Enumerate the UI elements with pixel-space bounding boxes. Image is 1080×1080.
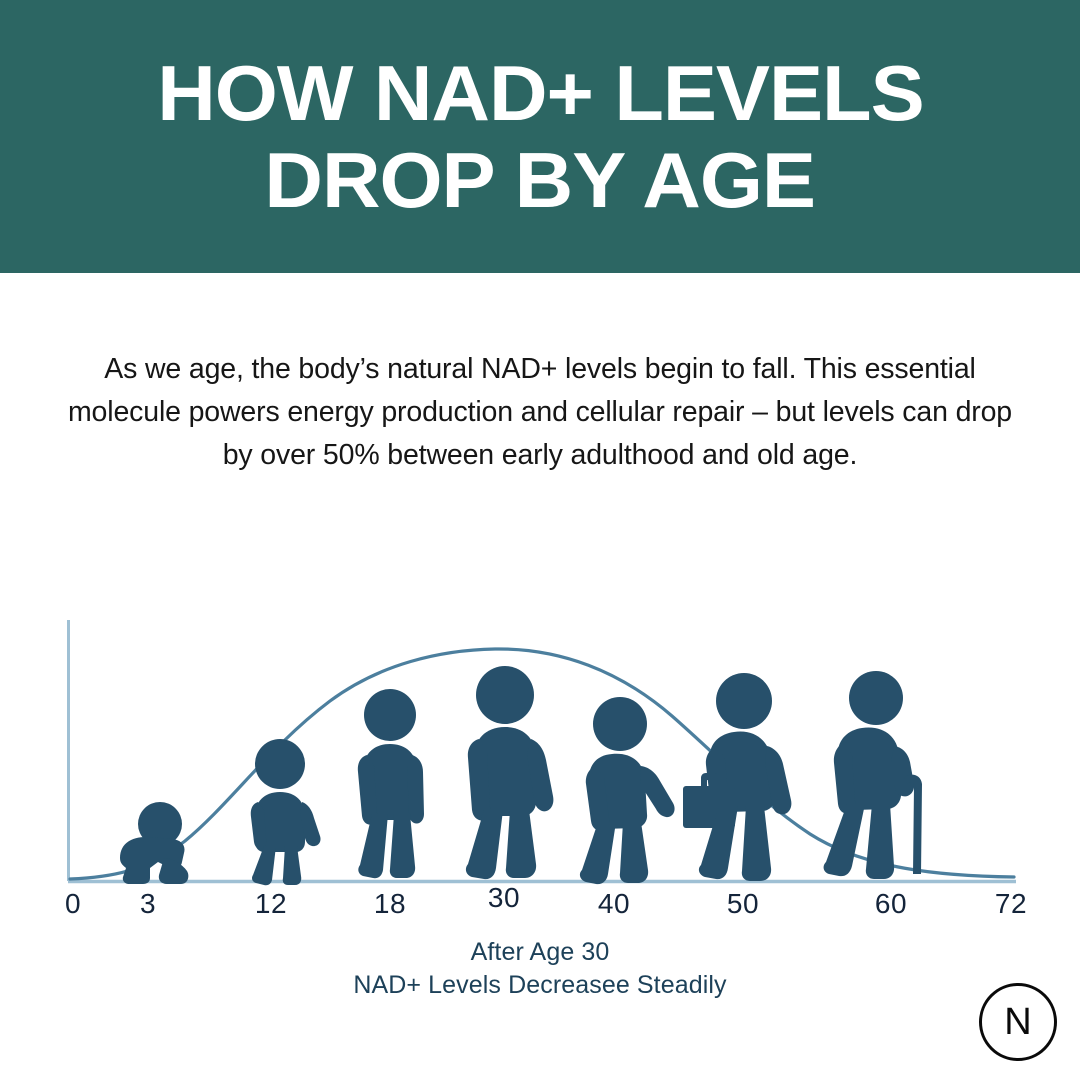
- chart-svg: [0, 596, 1080, 896]
- figure-adult-with-briefcase: [683, 673, 791, 881]
- infographic-page: HOW NAD+ LEVELS DROP BY AGE As we age, t…: [0, 0, 1080, 1080]
- x-tick-30: 30: [488, 882, 520, 914]
- figure-toddler: [251, 739, 321, 885]
- figure-adult: [580, 697, 675, 884]
- nad-level-chart: [0, 596, 1080, 896]
- x-tick-72: 72: [995, 888, 1027, 920]
- chart-caption: After Age 30 NAD+ Levels Decreasee Stead…: [0, 936, 1080, 1002]
- figure-crawling-baby: [120, 802, 188, 884]
- x-tick-18: 18: [374, 888, 406, 920]
- x-tick-50: 50: [727, 888, 759, 920]
- caption-line-2: NAD+ Levels Decreasee Steadily: [0, 969, 1080, 1002]
- intro-paragraph: As we age, the body’s natural NAD+ level…: [58, 348, 1022, 477]
- figure-teen: [358, 689, 424, 878]
- x-axis-tick-labels: 0 3 12 18 30 40 50 60 72: [0, 888, 1080, 928]
- logo-letter-n: N: [1004, 1003, 1031, 1041]
- page-title-line-1: HOW NAD+ LEVELS: [157, 53, 923, 133]
- brand-logo: N: [979, 983, 1057, 1061]
- x-tick-40: 40: [598, 888, 630, 920]
- page-title-line-2: DROP BY AGE: [265, 140, 816, 220]
- x-tick-3: 3: [140, 888, 156, 920]
- figure-young-adult: [466, 666, 553, 879]
- x-tick-0: 0: [65, 888, 81, 920]
- x-tick-60: 60: [875, 888, 907, 920]
- caption-line-1: After Age 30: [0, 936, 1080, 969]
- header-band: HOW NAD+ LEVELS DROP BY AGE: [0, 0, 1080, 273]
- figure-elderly-with-cane: [824, 671, 922, 879]
- x-tick-12: 12: [255, 888, 287, 920]
